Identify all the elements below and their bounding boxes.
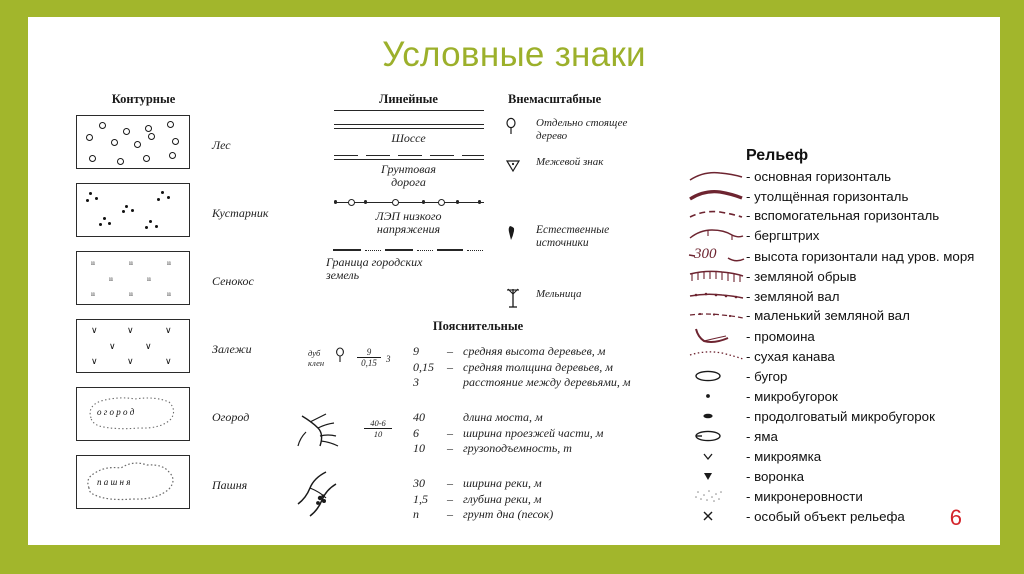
shrub-dots-box [76, 183, 190, 237]
fallow-vees-box: ∨∨ ∨ ∨∨ ∨∨ ∨ [76, 319, 190, 373]
small-earth-rampart-icon [688, 306, 746, 325]
legend-row: Естественные источники [498, 224, 678, 250]
power-line-low-voltage [326, 198, 491, 207]
tree-species-bottom: клен [308, 358, 324, 368]
relief-item-label: - микробугорок [746, 389, 838, 404]
tree-denominator: 0,15 [356, 358, 382, 368]
explanatory-text: глубина реки, м [463, 492, 542, 508]
garden-inner-text: о г о р о д [97, 407, 134, 417]
legend-row: ∨∨ ∨ ∨∨ ∨∨ ∨ Залежи [76, 319, 306, 380]
linear-symbols-column: Линейные Шоссе Грунтовая дорога [326, 92, 491, 291]
contour-item-label: Кустарник [212, 206, 268, 221]
legend-row: - сухая канава [688, 347, 1008, 367]
linear-caption: Грунтовая дорога [326, 163, 491, 189]
contour-item-label: Залежи [212, 342, 252, 357]
explanatory-row: 0,15 – средняя толщина деревьев, м [413, 360, 678, 376]
legend-row: - маленький земляной вал [688, 306, 1008, 326]
relief-item-label: - вспомогательная горизонталь [746, 208, 939, 223]
legend-row: - бергштрих [688, 226, 1008, 246]
legend-row: ıııı ıı ıııı ıııı ıı Сенокос [76, 251, 306, 312]
bridge-denominator: 10 [362, 429, 394, 439]
explanatory-row: 10 – грузоподъемность, т [413, 441, 678, 457]
linear-caption: ЛЭП низкого напряжения [326, 210, 491, 236]
legend-row: - земляной обрыв [688, 267, 1008, 287]
offscale-item-label: Мельница [536, 288, 582, 301]
city-boundary-dash-dot [326, 248, 491, 253]
legend-row: - промоина [688, 326, 1008, 347]
earth-cliff-icon [688, 267, 746, 286]
explanatory-value: 6 [413, 426, 447, 442]
offscale-symbols-column: Внемасштабные Отдельно стоящее дерево Ме… [498, 92, 678, 323]
pit-icon [688, 427, 746, 446]
offscale-item-label: Естественные источники [536, 224, 609, 250]
explanatory-text: средняя высота деревьев, м [463, 344, 605, 360]
legend-row: - утолщённая горизонталь [688, 187, 1008, 207]
relief-item-label: - микронеровности [746, 489, 863, 504]
explanatory-dash: – [447, 476, 463, 492]
legend-row: - бугор [688, 366, 1008, 387]
explanatory-row: п – грунт дна (песок) [413, 507, 678, 523]
explanatory-value: 10 [413, 441, 447, 457]
explanatory-row: 9 – средняя высота деревьев, м [413, 344, 678, 360]
contour-elevation-icon: 300 [688, 247, 746, 266]
offscale-item-label: Межевой знак [536, 156, 603, 169]
micro-pit-icon [688, 447, 746, 466]
explanatory-dash: – [447, 360, 463, 376]
relief-item-label: - продолговатый микробугорок [746, 409, 935, 424]
legend-row: - основная горизонталь [688, 167, 1008, 187]
hayfield-ticks-box: ıııı ıı ıııı ıııı ıı [76, 251, 190, 305]
legend-row: Отдельно стоящее дерево [498, 117, 678, 143]
windmill-icon [498, 288, 528, 310]
contour-header: Контурные [76, 92, 211, 107]
tree-notation-icon: дуб клен 9 0,15 3 [318, 344, 413, 396]
tree-spacing-value: 3 [386, 354, 391, 364]
legend-row: - продолговатый микробугорок [688, 407, 1008, 427]
explanatory-dash: – [447, 344, 463, 360]
explanatory-value: 40 [413, 410, 447, 426]
dry-ditch-icon [688, 347, 746, 366]
explanatory-dash: – [447, 492, 463, 508]
relief-item-label: - бергштрих [746, 228, 819, 243]
explanatory-value: 3 [413, 375, 447, 391]
explanatory-table: 9 – средняя высота деревьев, м 0,15 – ср… [413, 344, 678, 396]
relief-item-label: - промоина [746, 329, 815, 344]
explanatory-group: 30 – ширина реки, м 1,5 – глубина реки, … [318, 476, 678, 528]
page-number: 6 [950, 505, 962, 531]
explanatory-text: грунт дна (песок) [463, 507, 553, 523]
contour-item-label: Пашня [212, 478, 247, 493]
explanatory-row: 6 – ширина проезжей части, м [413, 426, 678, 442]
relief-header: Рельеф [746, 147, 1008, 165]
relief-item-label: - маленький земляной вал [746, 308, 910, 323]
tree-numerator: 9 [356, 347, 382, 357]
bridge-numerator: 40-6 [362, 418, 394, 428]
oblong-micro-mound-icon [688, 407, 746, 426]
gully-icon [688, 327, 746, 346]
earth-rampart-icon [688, 287, 746, 306]
contour-thick-icon [688, 187, 746, 206]
linear-caption: Шоссе [326, 132, 491, 145]
dirt-road-dashed-line [326, 154, 491, 160]
relief-item-label: - земляной обрыв [746, 269, 856, 284]
page-title: Условные знаки [28, 35, 1000, 75]
tree-species-top: дуб [308, 348, 320, 358]
legend-row: 300 - высота горизонтали над уров. моря [688, 245, 1008, 267]
contour-item-label: Лес [212, 138, 231, 153]
contour-elevation-value: 300 [694, 246, 717, 263]
explanatory-text: грузоподъемность, т [463, 441, 572, 457]
legend-row: Межевой знак [498, 156, 678, 178]
contour-main-icon [688, 167, 746, 186]
explanatory-table: 30 – ширина реки, м 1,5 – глубина реки, … [413, 476, 678, 528]
explanatory-value: п [413, 507, 447, 523]
mound-icon [688, 367, 746, 386]
linear-header: Линейные [326, 92, 491, 107]
linear-caption: Граница городских земель [326, 256, 491, 282]
legend-row: - микробугорок [688, 387, 1008, 407]
explanatory-text: расстояние между деревьями, м [463, 375, 631, 391]
explanatory-table: 40 длина моста, м 6 – ширина проезжей ча… [413, 410, 678, 462]
explanatory-group: 40-6 10 40 длина моста, м 6 – ширина про… [318, 410, 678, 462]
arable-box: п а ш н я [76, 455, 190, 509]
contour-symbols-column: Контурные Лес [76, 92, 306, 523]
explanatory-value: 9 [413, 344, 447, 360]
relief-item-label: - микроямка [746, 449, 821, 464]
relief-item-label: - яма [746, 429, 778, 444]
explanatory-section: Пояснительные дуб клен 9 0,15 3 9 [318, 319, 678, 542]
contour-auxiliary-icon [688, 206, 746, 225]
river-notation-icon [318, 476, 413, 528]
arable-inner-text: п а ш н я [97, 477, 130, 487]
bridge-notation-icon: 40-6 10 [318, 410, 413, 462]
micro-mound-icon [688, 387, 746, 406]
relief-item-label: - утолщённая горизонталь [746, 189, 908, 204]
legend-row: - воронка [688, 467, 1008, 487]
relief-item-label: - особый объект рельефа [746, 509, 905, 524]
explanatory-dash: – [447, 426, 463, 442]
kitchen-garden-box: о г о р о д [76, 387, 190, 441]
explanatory-text: ширина проезжей части, м [463, 426, 603, 442]
explanatory-value: 1,5 [413, 492, 447, 508]
explanatory-row: 40 длина моста, м [413, 410, 678, 426]
legend-row: п а ш н я Пашня [76, 455, 306, 516]
legend-row: Лес [76, 115, 306, 176]
explanatory-row: 30 – ширина реки, м [413, 476, 678, 492]
natural-spring-icon [498, 224, 528, 246]
legend-row: - микроямка [688, 447, 1008, 467]
relief-section: Рельеф - основная горизонталь - утолщённ… [688, 147, 1008, 527]
special-relief-object-icon [688, 507, 746, 526]
explanatory-dash [447, 410, 463, 426]
legend-row: - вспомогательная горизонталь [688, 206, 1008, 226]
explanatory-dash: – [447, 507, 463, 523]
forest-circles-box [76, 115, 190, 169]
offscale-item-label: Отдельно стоящее дерево [536, 117, 627, 143]
explanatory-text: средняя толщина деревьев, м [463, 360, 613, 376]
explanatory-text: длина моста, м [463, 410, 543, 426]
slide-canvas: Условные знаки Контурные Лес [28, 17, 1000, 545]
relief-item-label: - высота горизонтали над уров. моря [746, 249, 974, 264]
legend-row: Кустарник [76, 183, 306, 244]
legend-row: о г о р о д Огород [76, 387, 306, 448]
relief-item-label: - сухая канава [746, 349, 835, 364]
single-tree-icon [498, 117, 528, 139]
explanatory-text: ширина реки, м [463, 476, 542, 492]
explanatory-row: 3 расстояние между деревьями, м [413, 375, 678, 391]
legend-row: - земляной вал [688, 287, 1008, 307]
explanatory-header: Пояснительные [278, 319, 678, 334]
relief-item-label: - воронка [746, 469, 804, 484]
relief-item-label: - основная горизонталь [746, 169, 891, 184]
hachure-icon [688, 226, 746, 245]
explanatory-value: 30 [413, 476, 447, 492]
micro-roughness-icon [688, 487, 746, 506]
explanatory-group: дуб клен 9 0,15 3 9 – средняя высота дер… [318, 344, 678, 396]
legend-row: - яма [688, 426, 1008, 447]
relief-item-label: - бугор [746, 369, 787, 384]
legend-row: - микронеровности [688, 486, 1008, 507]
explanatory-dash [447, 375, 463, 391]
explanatory-row: 1,5 – глубина реки, м [413, 492, 678, 508]
offscale-header: Внемасштабные [508, 92, 678, 107]
contour-item-label: Огород [212, 410, 249, 425]
contour-item-label: Сенокос [212, 274, 254, 289]
explanatory-dash: – [447, 441, 463, 457]
funnel-icon [688, 467, 746, 486]
legend-row: Мельница [498, 288, 678, 310]
explanatory-value: 0,15 [413, 360, 447, 376]
highway-double-line [326, 124, 491, 129]
relief-item-label: - земляной вал [746, 289, 840, 304]
boundary-mark-icon [498, 156, 528, 178]
